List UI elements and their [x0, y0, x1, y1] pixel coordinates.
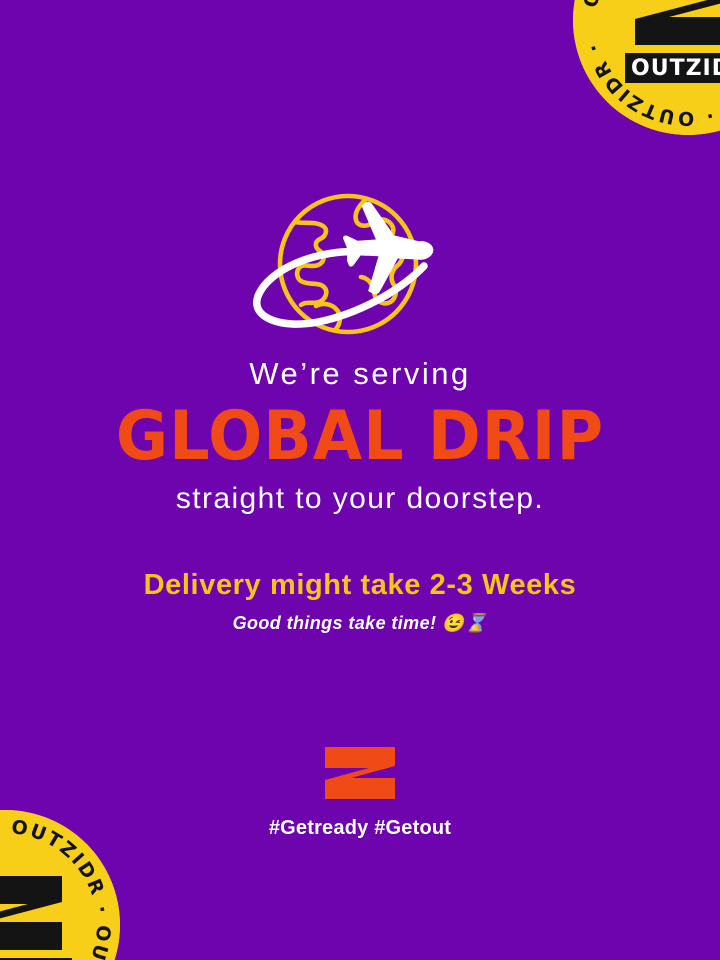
tagline-text: Good things take time! 😉⌛	[0, 614, 720, 633]
copy-block: We’re serving GLOBAL DRIP straight to yo…	[0, 358, 720, 633]
footer-lockup: #Getready #Getout	[0, 745, 720, 840]
delivery-estimate: Delivery might take 2-3 Weeks	[0, 570, 720, 600]
page-title: GLOBAL DRIP	[0, 403, 720, 471]
hashtags: #Getready #Getout	[0, 817, 720, 840]
eyebrow-text: We’re serving	[0, 358, 720, 391]
poster-canvas: OUTZIDR · OUTZIDR · OUTZIDR · OUTZIDR · …	[0, 0, 720, 960]
z-logo-mark	[321, 745, 399, 801]
badge-wordmark: OUTZIDR	[631, 56, 720, 81]
subline-text: straight to your doorstep.	[0, 483, 720, 515]
globe-airplane-illustration	[238, 186, 488, 346]
outzidr-badge-top-right: OUTZIDR · OUTZIDR · OUTZIDR · OUTZIDR · …	[573, 0, 720, 135]
